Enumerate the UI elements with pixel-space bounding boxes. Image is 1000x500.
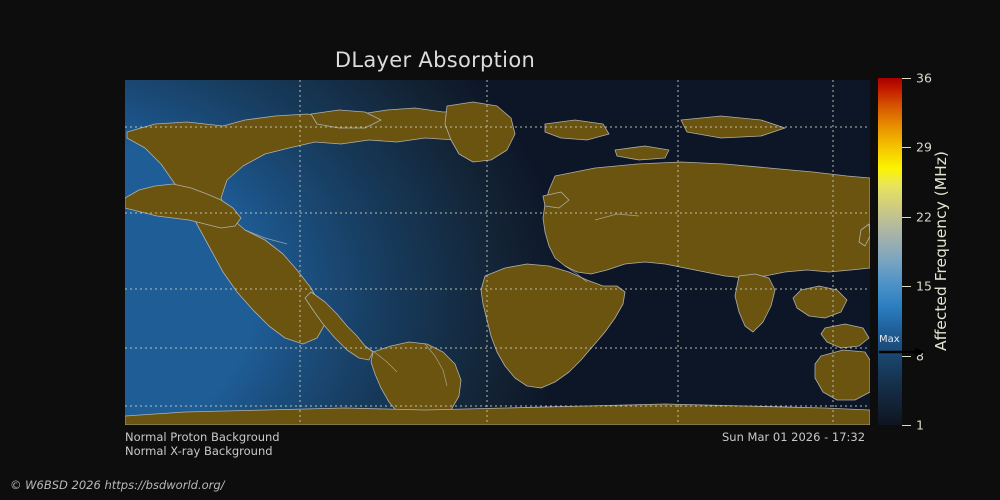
colorbar-tick-22 (902, 217, 911, 218)
world-map-svg (125, 80, 870, 425)
colorbar-tick-label-1: 1 (916, 418, 924, 433)
colorbar-gradient (878, 78, 902, 425)
copyright-text: © W6BSD 2026 https://bsdworld.org/ (10, 478, 225, 492)
max-marker-label: Max (879, 334, 900, 345)
colorbar-tick-29 (902, 147, 911, 148)
page-title: DLayer Absorption (0, 48, 870, 72)
xray-status-text: Normal X-ray Background (125, 444, 273, 458)
colorbar[interactable] (878, 78, 902, 425)
colorbar-tick-15 (902, 286, 911, 287)
dlayer-absorption-figure: DLayer Absorption (0, 0, 1000, 500)
proton-status-text: Normal Proton Background (125, 430, 280, 444)
colorbar-label: Affected Frequency (MHz) (929, 78, 953, 425)
max-marker: Max (878, 334, 938, 362)
timestamp-text: Sun Mar 01 2026 - 17:32 (722, 430, 865, 444)
colorbar-tick-36 (902, 78, 911, 79)
max-arrow-icon (879, 347, 925, 357)
colorbar-tick-1 (902, 425, 911, 426)
world-map-panel[interactable] (125, 80, 870, 425)
